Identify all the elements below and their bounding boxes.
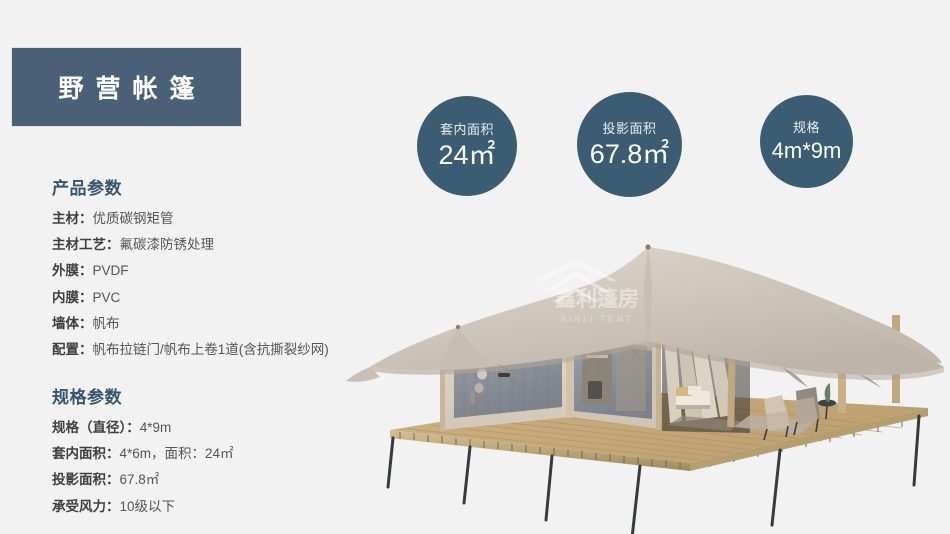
param-value: 优质碳钢矩管: [93, 211, 174, 226]
param-label: 配置：: [52, 342, 93, 357]
param-value: PVC: [93, 290, 121, 305]
param-value: 4*9m: [140, 420, 172, 435]
param-value: 10级以下: [120, 499, 176, 514]
badge-value: 24㎡: [438, 142, 495, 169]
param-label: 内膜：: [52, 290, 93, 305]
page-root: 野营帐篷 产品参数 主材：优质碳钢矩管 主材工艺：氟碳漆防锈处理 外膜：PVDF…: [0, 0, 950, 534]
param-value: 帆布: [93, 316, 120, 331]
badge-value: 67.8㎡: [590, 141, 670, 168]
param-label: 主材：: [52, 211, 93, 226]
badge-projection-area: 投影面积 67.8㎡: [577, 92, 682, 197]
param-row: 内膜：PVC: [52, 289, 329, 307]
param-value: 氟碳漆防锈处理: [120, 237, 215, 252]
param-label: 套内面积：: [52, 446, 120, 461]
param-row: 外膜：PVDF: [52, 262, 329, 280]
size-params-block: 规格参数 规格（直径）：4*9m 套内面积：4*6m，面积：24㎡ 投影面积：6…: [52, 383, 234, 524]
param-label: 墙体：: [52, 316, 93, 331]
page-title: 野营帐篷: [46, 69, 206, 105]
param-row: 墙体：帆布: [52, 315, 329, 333]
param-row: 套内面积：4*6m，面积：24㎡: [52, 445, 234, 463]
tent-render-image: [330, 195, 950, 534]
size-params-heading: 规格参数: [52, 383, 234, 408]
badge-label: 规格: [793, 121, 820, 134]
param-row: 投影面积：67.8㎡: [52, 471, 234, 489]
badge-label: 套内面积: [440, 123, 494, 136]
product-params-block: 产品参数 主材：优质碳钢矩管 主材工艺：氟碳漆防锈处理 外膜：PVDF 内膜：P…: [52, 174, 329, 367]
param-label: 主材工艺：: [52, 237, 120, 252]
product-params-heading: 产品参数: [52, 174, 329, 199]
param-value: 4*6m，面积：24㎡: [120, 446, 234, 461]
badge-spec: 规格 4m*9m: [760, 95, 853, 188]
param-label: 外膜：: [52, 263, 93, 278]
param-row: 配置：帆布拉链门/帆布上卷1道(含抗撕裂纱网): [52, 341, 329, 359]
param-label: 承受风力：: [52, 499, 120, 514]
badge-label: 投影面积: [602, 122, 656, 135]
param-value: PVDF: [93, 263, 129, 278]
param-row: 主材工艺：氟碳漆防锈处理: [52, 236, 329, 254]
param-row: 规格（直径）：4*9m: [52, 419, 234, 437]
param-label: 规格（直径）：: [52, 420, 140, 435]
title-banner: 野营帐篷: [12, 48, 241, 126]
badge-value: 4m*9m: [772, 140, 842, 162]
param-row: 承受风力：10级以下: [52, 498, 234, 516]
param-value: 67.8㎡: [120, 472, 160, 487]
param-label: 投影面积：: [52, 472, 120, 487]
param-row: 主材：优质碳钢矩管: [52, 210, 329, 228]
badge-indoor-area: 套内面积 24㎡: [417, 96, 517, 196]
param-value: 帆布拉链门/帆布上卷1道(含抗撕裂纱网): [93, 342, 329, 357]
